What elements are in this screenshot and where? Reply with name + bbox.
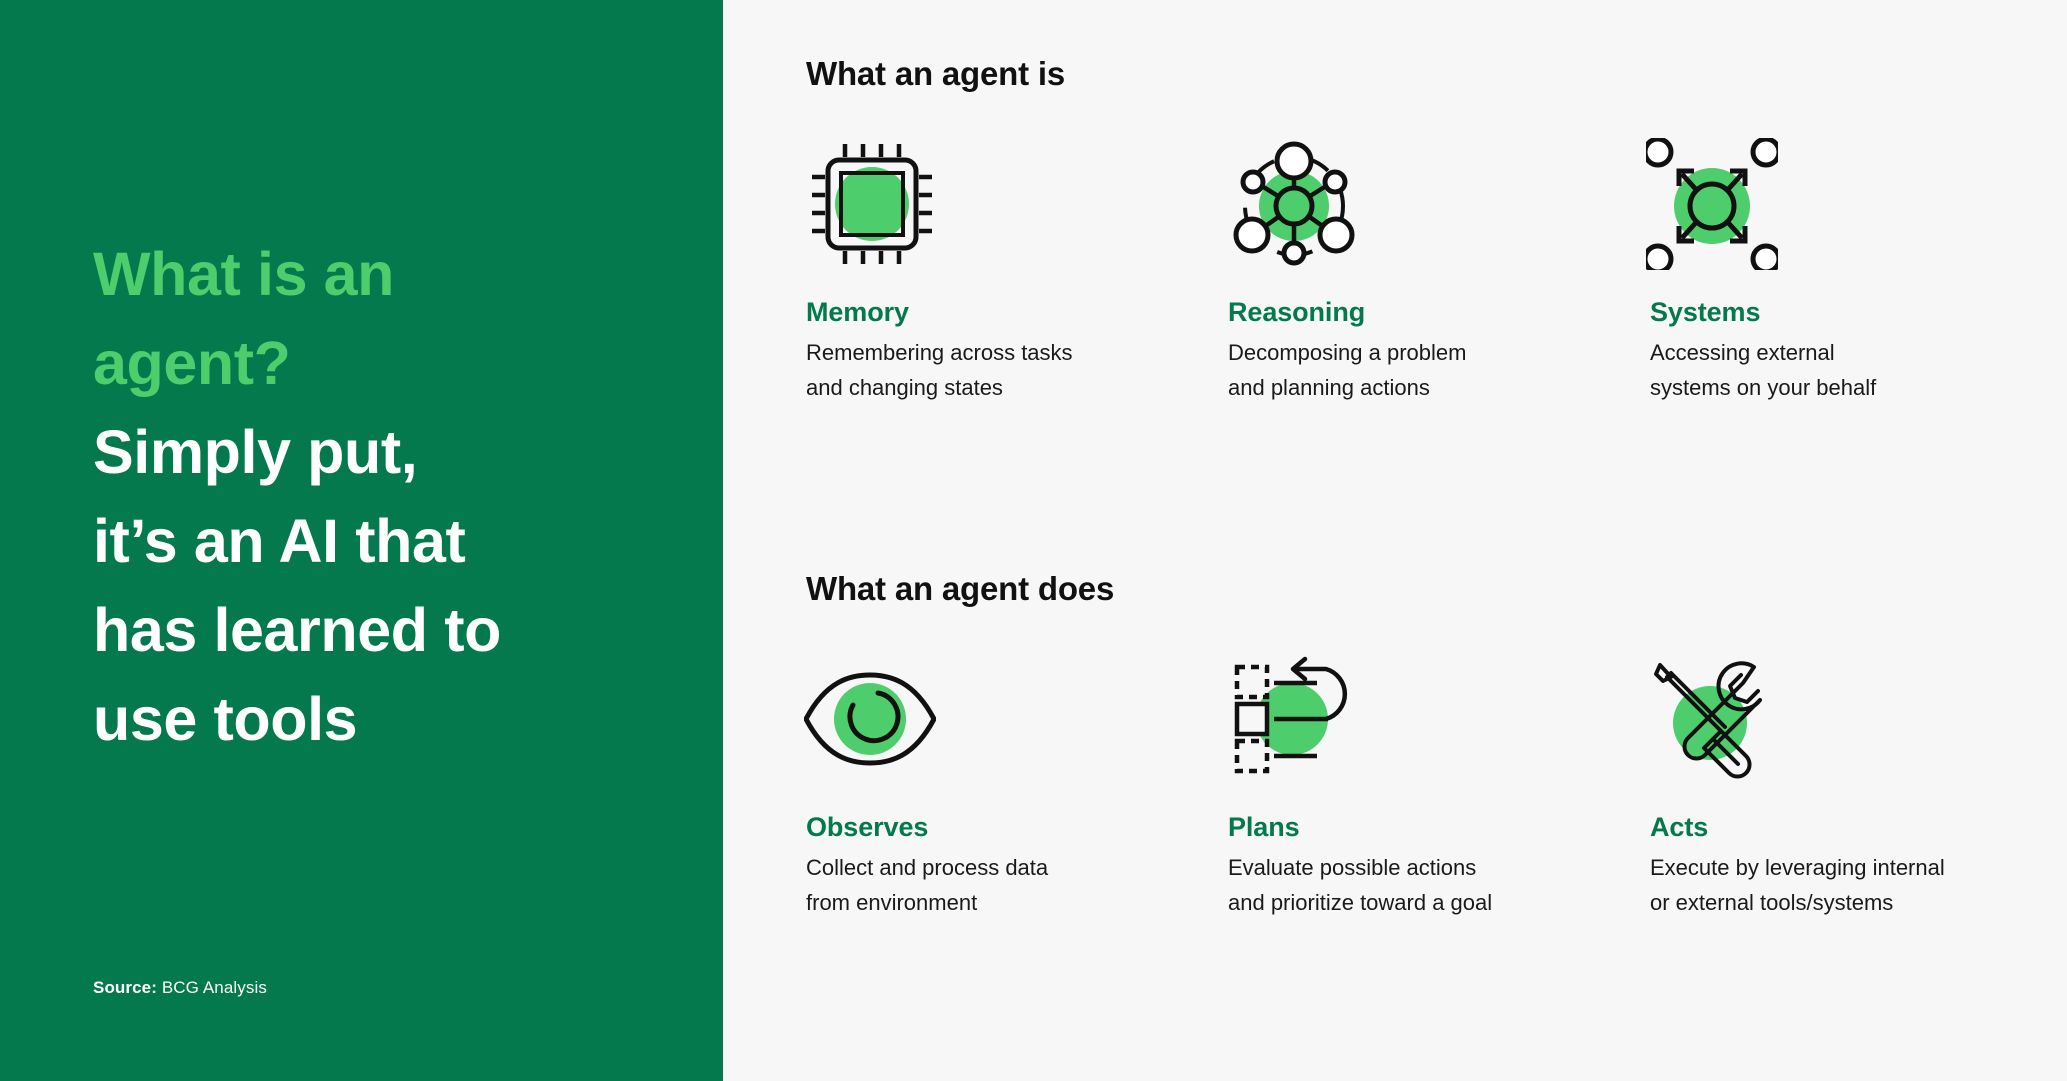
card-reasoning-desc: Decomposing a problem and planning actio… [1228, 335, 1650, 405]
left-title-panel: What is an agent? Simply put, it’s an AI… [0, 0, 723, 1081]
card-observes: Observes Collect and process data from e… [806, 644, 1228, 920]
card-plans-desc: Evaluate possible actions and prioritize… [1228, 850, 1650, 920]
source-note: Source: BCG Analysis [93, 978, 267, 998]
section-what-an-agent-is: What an agent is [806, 55, 2067, 405]
card-reasoning-icon-wrap [1228, 129, 1650, 279]
card-systems-icon-wrap [1650, 129, 2067, 279]
card-memory: Memory Remembering across tasks and chan… [806, 129, 1228, 405]
title-white-line-3: has learned to [93, 586, 653, 675]
section-what-an-agent-does: What an agent does Observes Collect and … [806, 570, 2067, 920]
card-plans: Plans Evaluate possible actions and prio… [1228, 644, 1650, 920]
card-acts: Acts Execute by leveraging internal or e… [1650, 644, 2067, 920]
title-accent-line-1: What is an [93, 230, 653, 319]
expand-nodes-icon [1646, 138, 1778, 270]
card-acts-title: Acts [1650, 812, 2067, 843]
cards-row-1: Memory Remembering across tasks and chan… [806, 129, 2067, 405]
card-reasoning-title: Reasoning [1228, 297, 1650, 328]
checklist-loop-icon [1222, 653, 1354, 785]
card-observes-title: Observes [806, 812, 1228, 843]
right-content-panel: What an agent is [723, 0, 2067, 1081]
card-observes-desc: Collect and process data from environmen… [806, 850, 1228, 920]
card-reasoning: Reasoning Decomposing a problem and plan… [1228, 129, 1650, 405]
source-label: Source: [93, 978, 157, 997]
card-memory-icon-wrap [806, 129, 1228, 279]
card-systems-title: Systems [1650, 297, 2067, 328]
card-observes-icon-wrap [806, 644, 1228, 794]
source-value: BCG Analysis [157, 978, 267, 997]
card-plans-title: Plans [1228, 812, 1650, 843]
tools-icon [1646, 653, 1778, 785]
card-systems: Systems Accessing external systems on yo… [1650, 129, 2067, 405]
card-systems-desc: Accessing external systems on your behal… [1650, 335, 2067, 405]
title-accent-line-2: agent? [93, 319, 653, 408]
section-heading-1: What an agent is [806, 55, 2067, 93]
chip-icon [806, 138, 938, 270]
card-acts-icon-wrap [1650, 644, 2067, 794]
network-hub-icon [1228, 138, 1360, 270]
section-heading-2: What an agent does [806, 570, 2067, 608]
card-acts-desc: Execute by leveraging internal or extern… [1650, 850, 2067, 920]
cards-row-2: Observes Collect and process data from e… [806, 644, 2067, 920]
slide-root: What is an agent? Simply put, it’s an AI… [0, 0, 2067, 1081]
title-white-line-2: it’s an AI that [93, 497, 653, 586]
card-memory-title: Memory [806, 297, 1228, 328]
eye-icon [804, 653, 936, 785]
title-white-line-1: Simply put, [93, 408, 653, 497]
title-white-line-4: use tools [93, 675, 653, 764]
card-memory-desc: Remembering across tasks and changing st… [806, 335, 1228, 405]
slide-title: What is an agent? Simply put, it’s an AI… [93, 230, 653, 764]
card-plans-icon-wrap [1228, 644, 1650, 794]
